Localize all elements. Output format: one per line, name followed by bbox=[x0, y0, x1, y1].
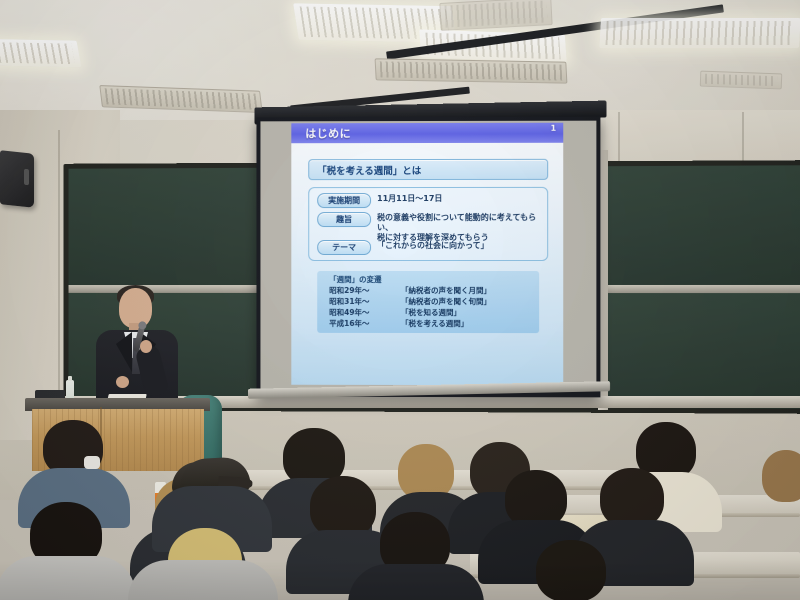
info-row-theme: テーマ 「これからの社会に向かって」 bbox=[317, 240, 488, 255]
slide-title-bar: はじめに bbox=[291, 123, 563, 144]
history-name: 「納税者の声を聞く旬間」 bbox=[401, 296, 491, 307]
audience-shoulders bbox=[128, 560, 278, 600]
speaker-hand-upper bbox=[140, 340, 152, 353]
ceiling-light-4 bbox=[599, 18, 800, 48]
ceiling-vent-4 bbox=[700, 71, 783, 90]
history-title: 「週間」の変遷 bbox=[329, 274, 381, 285]
ceiling-light-2 bbox=[0, 39, 81, 68]
presentation-slide: はじめに 1 「税を考える週間」とは 実施期間 11月11日～17日 趣旨 税の… bbox=[291, 123, 563, 386]
screen-surface: はじめに 1 「税を考える週間」とは 実施期間 11月11日～17日 趣旨 税の… bbox=[260, 121, 596, 392]
audience-head bbox=[310, 476, 376, 538]
info-label-purpose: 趣旨 bbox=[317, 212, 371, 227]
slide-subtitle-text: 「税を考える週間」とは bbox=[317, 163, 421, 177]
vent-slats bbox=[705, 74, 777, 87]
info-text-purpose: 税の意義や役割について能動的に考えてもらい、 税に対する理解を深めてもらう bbox=[377, 212, 547, 243]
audience-shoulders bbox=[348, 564, 484, 600]
slide-info-box: 実施期間 11月11日～17日 趣旨 税の意義や役割について能動的に考えてもらい… bbox=[308, 187, 548, 261]
info-row-purpose: 趣旨 税の意義や役割について能動的に考えてもらい、 税に対する理解を深めてもらう bbox=[317, 212, 547, 243]
history-row: 昭和29年～ 「納税者の声を聞く月間」 bbox=[329, 285, 491, 296]
history-name: 「税を知る週間」 bbox=[401, 307, 461, 318]
audience-face-mask bbox=[84, 456, 100, 469]
info-label-theme: テーマ bbox=[317, 240, 371, 255]
history-name: 「税を考える週間」 bbox=[401, 318, 468, 329]
ceiling-vent-2 bbox=[375, 58, 568, 83]
speaker-head bbox=[119, 288, 152, 328]
vent-slats bbox=[444, 0, 547, 27]
vent-slats bbox=[380, 61, 563, 80]
projection-screen: はじめに 1 「税を考える週間」とは 実施期間 11月11日～17日 趣旨 税の… bbox=[256, 117, 600, 398]
info-label-period: 実施期間 bbox=[317, 193, 371, 208]
history-row: 平成16年～ 「税を考える週間」 bbox=[329, 318, 468, 329]
wall-speaker bbox=[0, 150, 34, 208]
light-grill bbox=[0, 42, 75, 64]
speaker-hand-lower bbox=[116, 376, 129, 388]
audience-shoulders bbox=[0, 556, 136, 600]
slide-title: はじめに bbox=[305, 125, 351, 141]
info-text-period: 11月11日～17日 bbox=[377, 193, 442, 204]
history-era: 昭和49年～ bbox=[329, 307, 401, 318]
vent-slats bbox=[105, 88, 258, 110]
slide-subtitle-box: 「税を考える週間」とは bbox=[308, 159, 548, 180]
slide-page-number: 1 bbox=[551, 124, 557, 133]
podium-bottle bbox=[66, 380, 74, 400]
slide-history-box: 「週間」の変遷 昭和29年～ 「納税者の声を聞く月間」 昭和31年～ 「納税者の… bbox=[317, 271, 539, 333]
light-grill bbox=[606, 21, 795, 45]
audience-head bbox=[600, 468, 664, 528]
audience-head bbox=[762, 450, 800, 502]
wall-seam-3 bbox=[58, 130, 60, 420]
history-era: 昭和31年～ bbox=[329, 296, 401, 307]
history-era: 昭和29年～ bbox=[329, 285, 401, 296]
history-name: 「納税者の声を聞く月間」 bbox=[401, 285, 491, 296]
info-text-theme: 「これからの社会に向かって」 bbox=[377, 240, 489, 251]
history-era: 平成16年～ bbox=[329, 318, 401, 329]
lecture-hall-photo: はじめに 1 「税を考える週間」とは 実施期間 11月11日～17日 趣旨 税の… bbox=[0, 0, 800, 600]
info-row-period: 実施期間 11月11日～17日 bbox=[317, 193, 442, 208]
audience-head bbox=[536, 540, 606, 600]
history-row: 昭和49年～ 「税を知る週間」 bbox=[329, 307, 461, 318]
history-row: 昭和31年～ 「納税者の声を聞く旬間」 bbox=[329, 296, 491, 307]
